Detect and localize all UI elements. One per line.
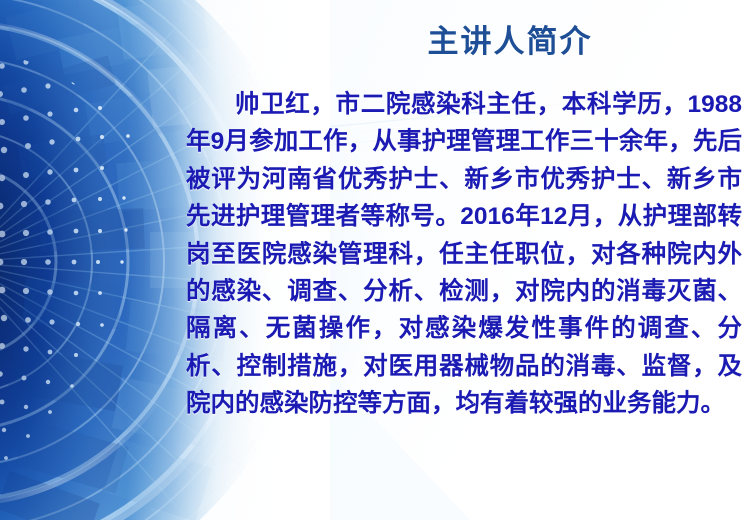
page-title: 主讲人简介 [330,16,690,61]
speaker-bio-paragraph: 帅卫红，市二院感染科主任，本科学历，1988年9月参加工作，从事护理管理工作三十… [186,86,742,423]
presentation-slide: 主讲人简介 帅卫红，市二院感染科主任，本科学历，1988年9月参加工作，从事护理… [0,0,750,520]
speaker-bio-text: 帅卫红，市二院感染科主任，本科学历，1988年9月参加工作，从事护理管理工作三十… [186,86,742,423]
